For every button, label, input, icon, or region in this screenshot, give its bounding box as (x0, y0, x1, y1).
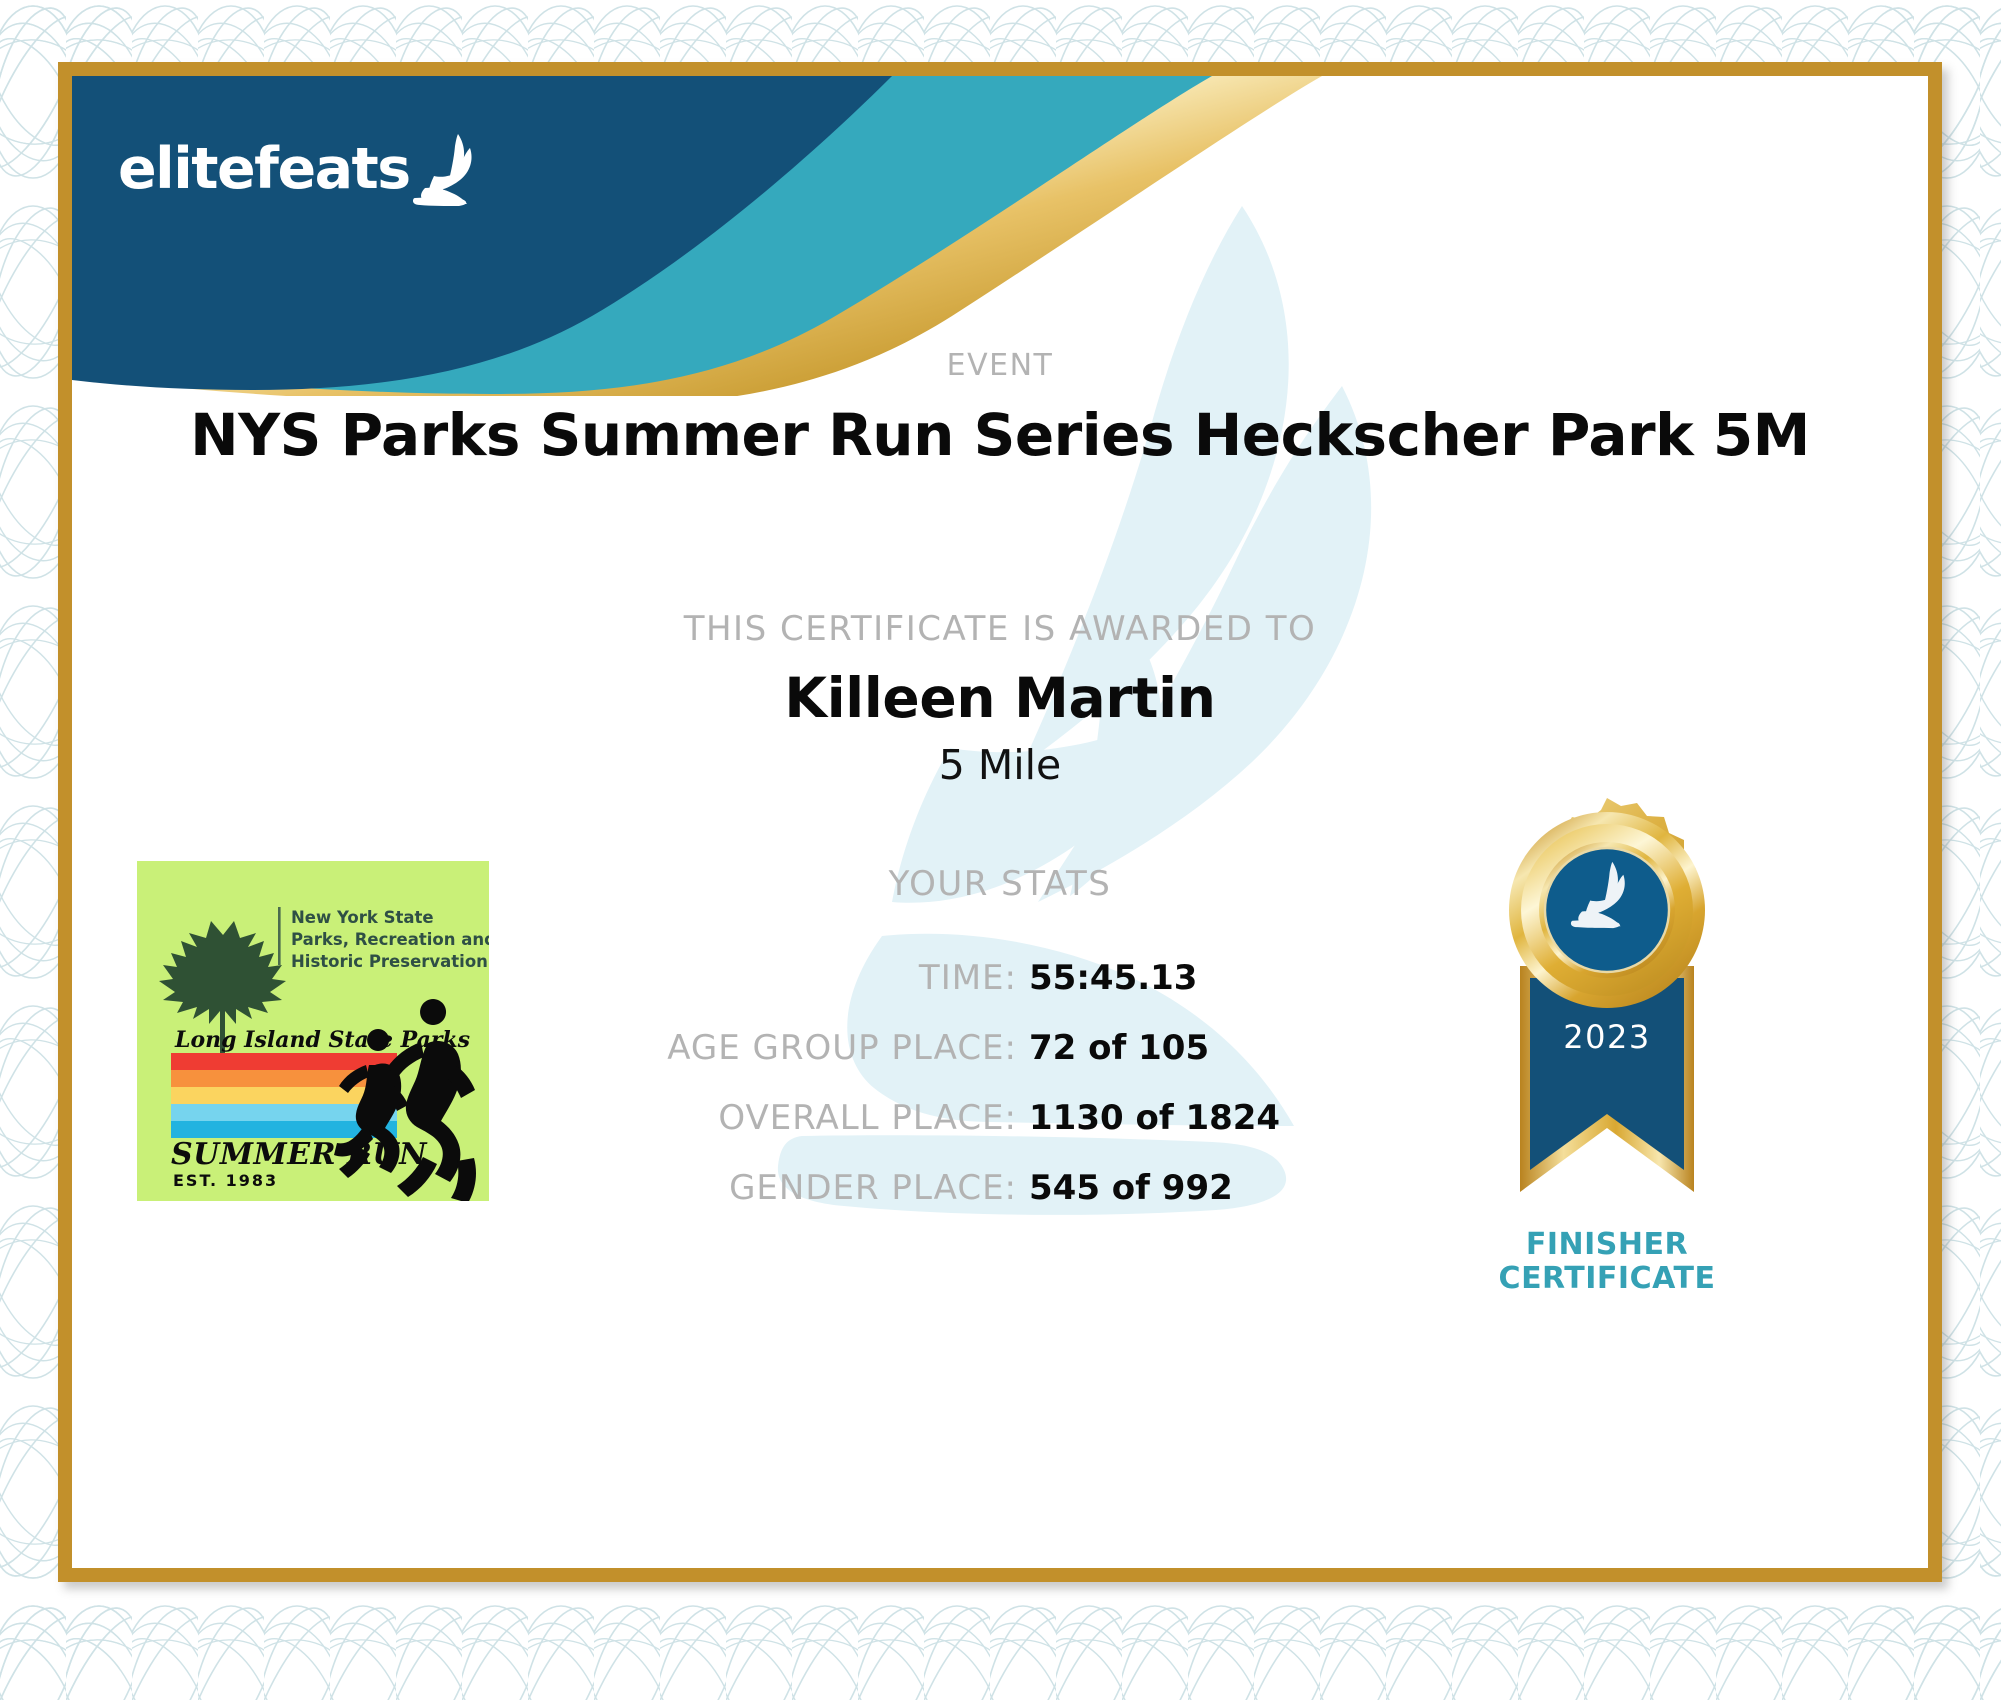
agency-line-2: Parks, Recreation and (291, 930, 489, 949)
sponsor-logo: New York State Parks, Recreation and His… (137, 861, 489, 1201)
recipient-name: Killeen Martin (72, 666, 1928, 730)
awarded-to-label: THIS CERTIFICATE IS AWARDED TO (72, 609, 1928, 649)
certificate-body: elitefeats EVENT NYS (72, 76, 1928, 1568)
established-year: EST. 1983 (173, 1171, 278, 1190)
medal-year: 2023 (1563, 1018, 1650, 1056)
stat-value: 72 of 105 (1029, 1028, 1209, 1068)
recipient-distance: 5 Mile (72, 741, 1928, 789)
elitefeats-logo: elitefeats (118, 134, 478, 204)
finisher-certificate-caption: FINISHER CERTIFICATE (1442, 1228, 1772, 1296)
stat-value: 1130 of 1824 (1029, 1098, 1280, 1138)
event-title: NYS Parks Summer Run Series Heckscher Pa… (72, 401, 1928, 469)
event-label: EVENT (72, 348, 1928, 383)
stat-value: 545 of 992 (1029, 1168, 1233, 1208)
stat-value: 55:45.13 (1029, 958, 1197, 998)
agency-line-3: Historic Preservation (291, 952, 488, 971)
finisher-medal-badge: 2023 (1462, 798, 1752, 1218)
agency-line-1: New York State (291, 908, 434, 927)
certificate-page: elitefeats EVENT NYS (0, 0, 2001, 1700)
winged-foot-icon (412, 132, 478, 206)
certificate-frame: elitefeats EVENT NYS (58, 62, 1942, 1582)
brand-wordmark: elitefeats (118, 141, 410, 198)
finisher-caption-line-2: CERTIFICATE (1442, 1262, 1772, 1296)
finisher-caption-line-1: FINISHER (1442, 1228, 1772, 1262)
